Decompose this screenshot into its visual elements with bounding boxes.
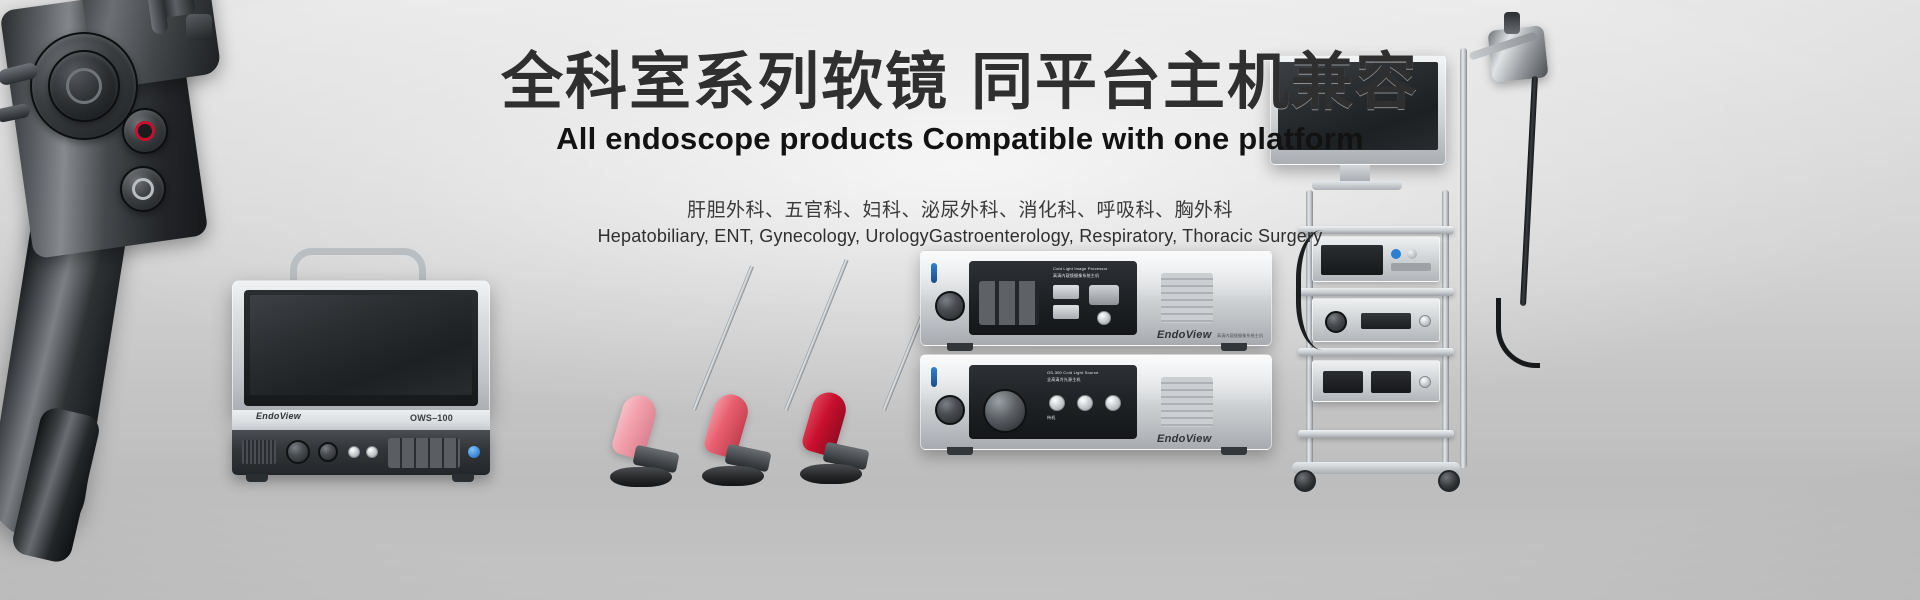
workstation-keypad [388, 438, 460, 468]
surgical-instrument-coral [692, 248, 802, 486]
lightsource-button-manual [1105, 395, 1121, 411]
cart-caster-left [1294, 470, 1316, 492]
cart-shelf-4 [1298, 430, 1454, 438]
processor-sublabel: 高清内窥镜摄像系统主机 [1217, 333, 1263, 339]
processor-model-en: Cold Light Image Processor [1053, 266, 1108, 272]
lightsource-vent [1161, 377, 1213, 427]
workstation-button-power [348, 446, 360, 458]
workstation-brand-label: EndoView [256, 411, 301, 421]
workstation-port-light [318, 442, 338, 462]
lightsource-blue-accent [931, 367, 937, 387]
workstation-model-label: OWS–100 [410, 413, 453, 423]
page-title: 全科室系列软镜同平台主机兼容 [0, 48, 1920, 117]
processor-blue-accent [931, 263, 937, 283]
instrument-stand [610, 467, 672, 487]
workstation-button-capture [366, 446, 378, 458]
lightsource-button-labels: 待机 [1047, 415, 1055, 421]
instrument-stand [800, 464, 862, 484]
module-readout [1361, 313, 1411, 329]
processor-button-freeze [1053, 285, 1079, 299]
processor-foot-right [1221, 343, 1247, 351]
processor-button-record [1053, 305, 1079, 319]
instrument-stand [702, 466, 764, 486]
processor-brand-label: EndoView [1157, 329, 1212, 341]
module-screen [1323, 371, 1363, 393]
workstation-foot-left [246, 474, 268, 482]
cart-base [1292, 462, 1460, 474]
page-subtitle: All endoscope products Compatible with o… [0, 121, 1920, 157]
processor-model-cn: 高清内窥镜摄像系统主机 [1053, 273, 1099, 279]
processor-button-power [1097, 311, 1111, 325]
workstation-speaker-grille [242, 440, 276, 464]
module-indicator-blue [1391, 249, 1401, 259]
endoscope-top-button [186, 14, 212, 40]
image-processor-unit: Cold Light Image Processor 高清内窥镜摄像系统主机 E… [920, 250, 1272, 346]
workstation-foot-right [452, 474, 474, 482]
module-power-button [1419, 315, 1431, 327]
module-button [1407, 249, 1417, 259]
cart-module-insufflator [1312, 360, 1440, 402]
processor-vent [1161, 273, 1213, 323]
departments-english: Hepatobiliary, ENT, Gynecology, UrologyG… [0, 226, 1920, 247]
processor-port-usb [1089, 285, 1119, 305]
cold-light-source-unit: OS-300 Cold Light Source 全高清冷光源主机 待机 End… [920, 354, 1272, 450]
workstation-power-indicator [468, 446, 480, 458]
workstation-display [250, 295, 472, 395]
module-slot [1391, 263, 1431, 271]
processor-knob-main [935, 291, 965, 321]
module-button-2 [1419, 376, 1431, 388]
lightsource-brightness-knob [983, 389, 1027, 433]
workstation-port-video [286, 440, 310, 464]
lightsource-button-standby [1049, 395, 1065, 411]
processor-stack-image: Cold Light Image Processor 高清内窥镜摄像系统主机 E… [920, 250, 1280, 460]
surgical-instrument-red [790, 240, 900, 486]
endoscopy-workstation-image: EndoView OWS–100 [232, 250, 494, 475]
cart-caster-right [1438, 470, 1460, 492]
lightsource-button-auto [1077, 395, 1093, 411]
departments-chinese: 肝胆外科、五官科、妇科、泌尿外科、消化科、呼吸科、胸外科 [0, 195, 1920, 222]
cart-cable-coil [1296, 230, 1340, 350]
product-banner: EndoView OWS–100 [0, 0, 1920, 600]
banner-text-block: 全科室系列软镜同平台主机兼容 All endoscope products Co… [0, 48, 1920, 247]
lightsource-foot-right [1221, 447, 1247, 455]
lightsource-brand-label: EndoView [1157, 433, 1212, 445]
headline-part-2: 同平台主机兼容 [971, 48, 1419, 117]
processor-foot-left [947, 343, 973, 351]
headline-part-1: 全科室系列软镜 [501, 48, 949, 117]
lightsource-model-cn: 全高清冷光源主机 [1047, 377, 1081, 383]
processor-keypad [979, 281, 1039, 325]
lightsource-foot-left [947, 447, 973, 455]
cart-scope-eyepiece [1504, 12, 1520, 34]
lightsource-port-fiber [935, 395, 965, 425]
module-screen-2 [1371, 371, 1411, 393]
lightsource-model-en: OS-300 Cold Light Source [1047, 370, 1099, 376]
cart-scope-tube-curve [1496, 298, 1540, 368]
